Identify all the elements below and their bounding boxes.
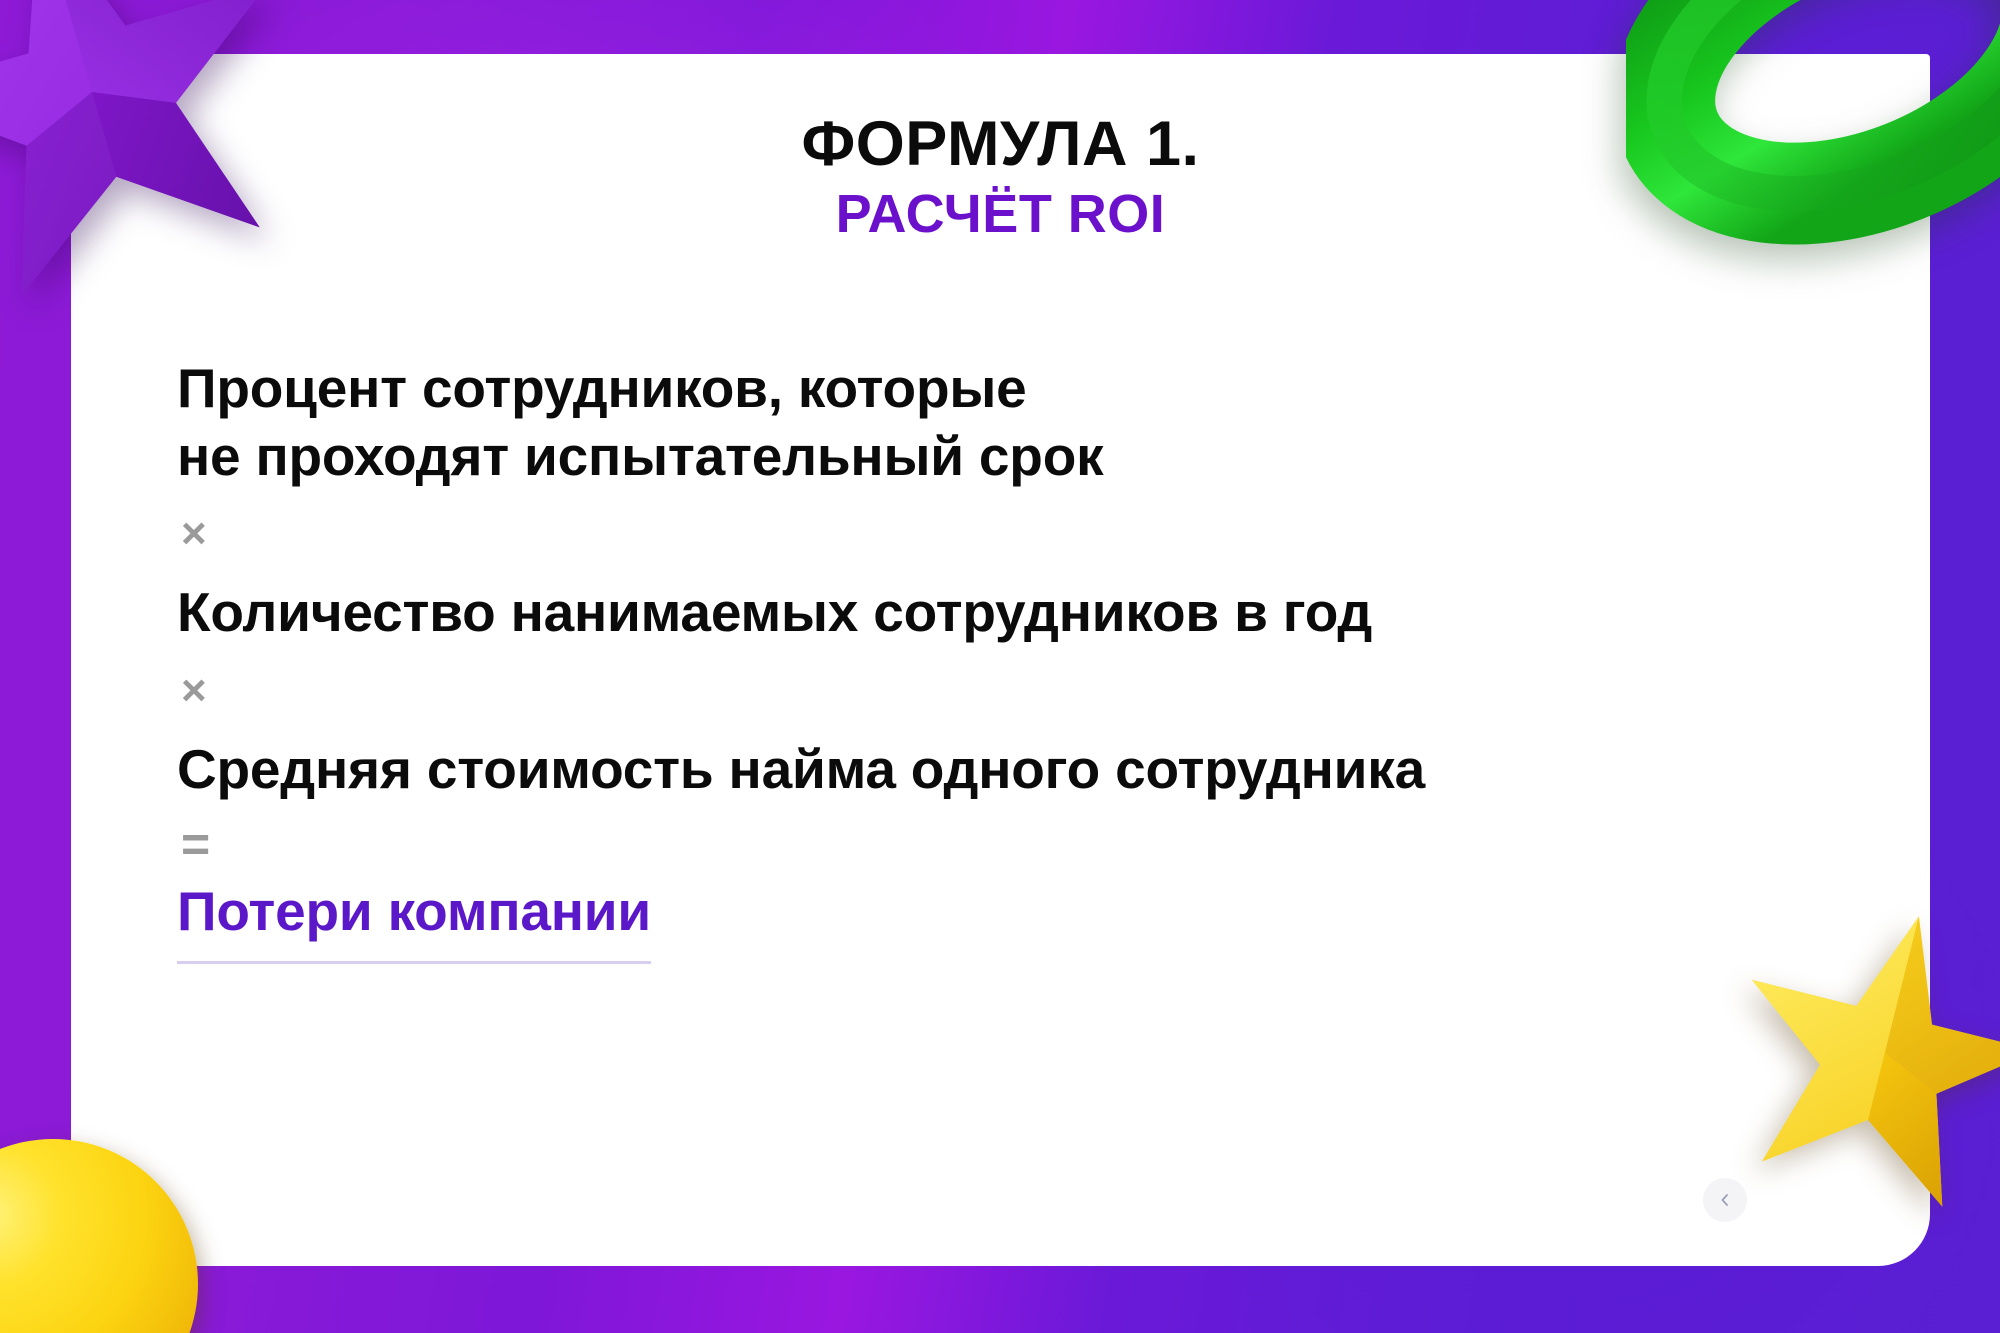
- formula-block: Процент сотрудников, которые не проходят…: [177, 354, 1870, 964]
- page-title: ФОРМУЛА 1.: [71, 112, 1930, 178]
- formula-term-2: Количество нанимаемых сотрудников в год: [177, 578, 1870, 646]
- equals-operator: =: [181, 819, 1870, 865]
- formula-term-3: Средняя стоимость найма одного сотрудник…: [177, 735, 1870, 803]
- previous-slide-button[interactable]: [1703, 1178, 1747, 1222]
- formula-result-row: Потери компании: [177, 879, 1870, 964]
- formula-term-1: Процент сотрудников, которые не проходят…: [177, 354, 1870, 490]
- multiply-operator-1: ×: [181, 512, 1870, 558]
- formula-result: Потери компании: [177, 879, 651, 964]
- page-subtitle: РАСЧЁТ ROI: [71, 184, 1930, 244]
- card-content: ФОРМУЛА 1. РАСЧЁТ ROI Процент сотруднико…: [71, 54, 1930, 1266]
- chevron-left-icon: [1718, 1193, 1732, 1207]
- slide-canvas: ФОРМУЛА 1. РАСЧЁТ ROI Процент сотруднико…: [0, 0, 2000, 1333]
- multiply-operator-2: ×: [181, 669, 1870, 715]
- title-block: ФОРМУЛА 1. РАСЧЁТ ROI: [71, 112, 1930, 244]
